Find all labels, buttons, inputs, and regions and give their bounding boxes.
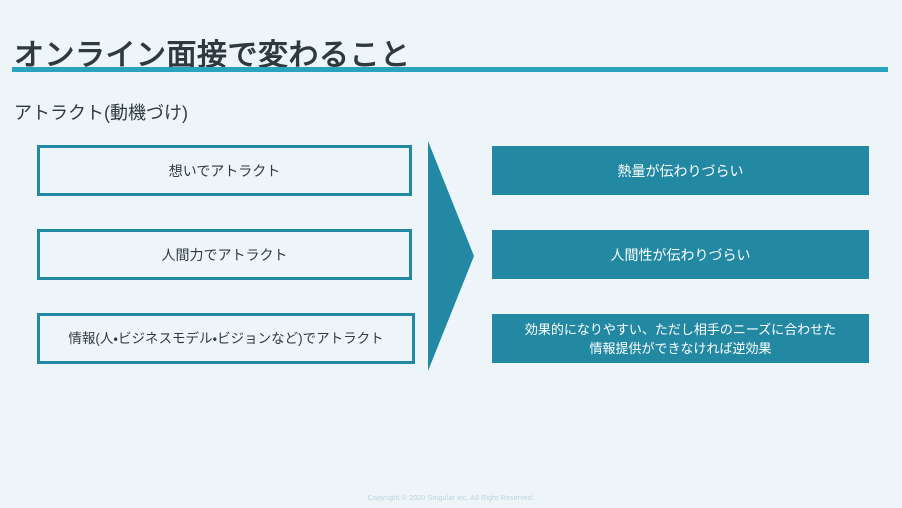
right-arrow-triangle-svg	[428, 141, 474, 371]
right-arrow-icon	[428, 141, 474, 371]
slide: オンライン面接で変わること アトラクト(動機づけ) 想いでアトラクト 人間力でア…	[0, 0, 902, 508]
before-box-1-label: 想いでアトラクト	[169, 161, 281, 181]
after-box-3-label-line1: 効果的になりやすい、ただし相手のニーズに合わせた	[525, 320, 836, 339]
after-box-1[interactable]: 熱量が伝わりづらい	[492, 146, 869, 195]
section-label: アトラクト(動機づけ)	[14, 100, 188, 126]
after-box-2[interactable]: 人間性が伝わりづらい	[492, 230, 869, 279]
title-divider	[12, 67, 888, 72]
footer-copyright: Copyright © 2020 Singular inc. All Right…	[0, 494, 902, 504]
before-box-3[interactable]: 情報(人・ビジネスモデル・ビジョンなど)でアトラクト	[37, 313, 415, 364]
after-box-2-label: 人間性が伝わりづらい	[611, 245, 751, 265]
before-box-2[interactable]: 人間力でアトラクト	[37, 229, 412, 280]
after-box-1-label: 熱量が伝わりづらい	[618, 161, 744, 181]
before-box-2-label: 人間力でアトラクト	[162, 245, 288, 265]
after-box-3-label-line2: 情報提供ができなければ逆効果	[525, 339, 836, 358]
before-box-1[interactable]: 想いでアトラクト	[37, 145, 412, 196]
after-box-3[interactable]: 効果的になりやすい、ただし相手のニーズに合わせた 情報提供ができなければ逆効果	[492, 314, 869, 363]
before-box-3-label: 情報(人・ビジネスモデル・ビジョンなど)でアトラクト	[68, 329, 383, 349]
